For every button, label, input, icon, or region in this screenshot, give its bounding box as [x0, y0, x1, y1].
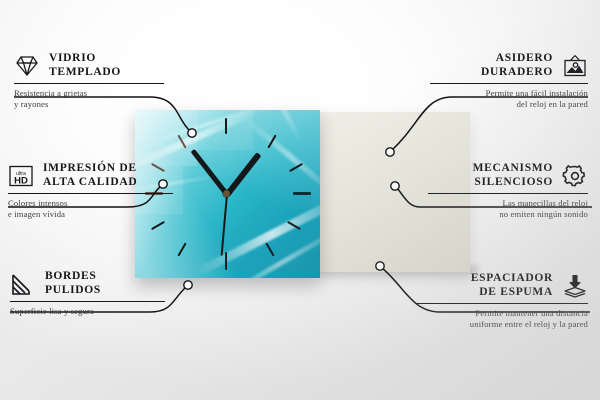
- feature-description: Superficie lisa y segura: [10, 306, 165, 317]
- feature-title: IMPRESIÓN DE ALTA CALIDAD: [43, 162, 137, 189]
- divider: [430, 83, 588, 84]
- feature-title: BORDES PULIDOS: [45, 270, 101, 297]
- divider: [14, 83, 164, 84]
- ultra-hd-icon: ultra HD: [8, 164, 34, 188]
- divider: [428, 193, 588, 194]
- ultra-hd-large-label: HD: [14, 175, 28, 186]
- feature-description: Permite una fácil instalación del reloj …: [430, 88, 588, 109]
- picture-frame-hanger-icon: [562, 54, 588, 78]
- feature-description: Permite mantener una distancia uniforme …: [416, 308, 588, 329]
- divider: [416, 303, 588, 304]
- feature-title: ESPACIADOR DE ESPUMA: [471, 272, 553, 299]
- feature-title: VIDRIO TEMPLADO: [49, 52, 121, 79]
- feature-callout-espaciador-espuma[interactable]: ESPACIADOR DE ESPUMA Permite mantener un…: [416, 272, 588, 330]
- polished-edges-icon: [10, 272, 36, 296]
- foam-spacer-icon: [562, 274, 588, 298]
- divider: [10, 301, 165, 302]
- feature-callout-bordes-pulidos[interactable]: BORDES PULIDOS Superficie lisa y segura: [10, 270, 165, 317]
- infographic-canvas: VIDRIO TEMPLADO Resistencia a grietas y …: [0, 0, 600, 400]
- feature-title: ASIDERO DURADERO: [481, 52, 553, 79]
- gear-icon: [562, 164, 588, 188]
- feature-callout-impresion-alta-calidad[interactable]: ultra HD IMPRESIÓN DE ALTA CALIDAD Color…: [8, 162, 173, 220]
- feature-callout-asidero-duradero[interactable]: ASIDERO DURADERO Permite una fácil insta…: [430, 52, 588, 110]
- feature-description: Resistencia a grietas y rayones: [14, 88, 164, 109]
- leader-node-6: [376, 262, 384, 270]
- diamond-icon: [14, 54, 40, 78]
- leader-node-3: [184, 281, 192, 289]
- leader-node-4: [386, 148, 394, 156]
- leader-node-5: [391, 182, 399, 190]
- feature-callout-vidrio-templado[interactable]: VIDRIO TEMPLADO Resistencia a grietas y …: [14, 52, 164, 110]
- leader-node-1: [188, 129, 196, 137]
- feature-title: MECANISMO SILENCIOSO: [473, 162, 553, 189]
- feature-description: Las manecillas del reloj no emiten ningú…: [428, 198, 588, 219]
- divider: [8, 193, 173, 194]
- feature-description: Colores intensos e imagen vívida: [8, 198, 173, 219]
- feature-callout-mecanismo-silencioso[interactable]: MECANISMO SILENCIOSO Las manecillas del …: [428, 162, 588, 220]
